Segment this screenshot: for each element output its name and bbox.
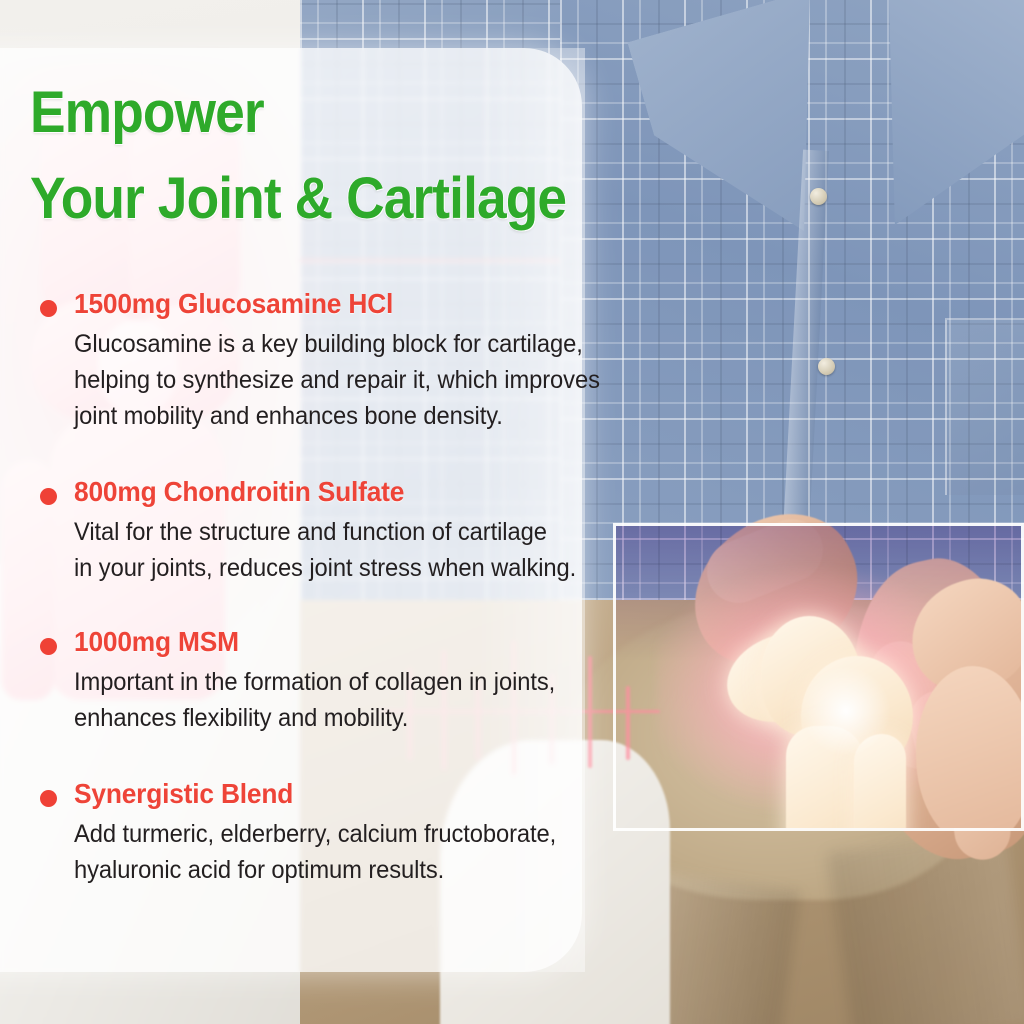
benefit-title: 1000mg MSM <box>74 626 587 658</box>
list-item: Synergistic Blend Add turmeric, elderber… <box>0 778 620 888</box>
trouser-fold-right <box>827 828 1024 1024</box>
list-item: 1500mg Glucosamine HCl Glucosamine is a … <box>0 288 620 434</box>
shirt-button-upper <box>810 188 827 205</box>
bullet-dot-icon <box>40 488 57 505</box>
headline-line-1: Empower <box>30 84 554 142</box>
benefit-line: enhances flexibility and mobility. <box>74 700 593 736</box>
benefit-description: Important in the formation of collagen i… <box>74 664 593 736</box>
shirt-button-lower <box>818 358 835 375</box>
benefit-description: Vital for the structure and function of … <box>74 514 593 586</box>
infographic-canvas: Empower Your Joint & Cartilage 1500mg Gl… <box>0 0 1024 1024</box>
benefit-title: 800mg Chondroitin Sulfate <box>74 476 587 508</box>
benefit-line: in your joints, reduces joint stress whe… <box>74 550 593 586</box>
inset-knee-photo-frame <box>613 523 1024 831</box>
inset-hand-lower <box>916 666 1024 831</box>
content-area: Empower Your Joint & Cartilage 1500mg Gl… <box>0 0 620 1024</box>
bullet-dot-icon <box>40 300 57 317</box>
benefit-title: 1500mg Glucosamine HCl <box>74 288 587 320</box>
list-item: 800mg Chondroitin Sulfate Vital for the … <box>0 476 620 586</box>
benefit-line: hyaluronic acid for optimum results. <box>74 852 593 888</box>
benefit-description: Glucosamine is a key building block for … <box>74 326 593 434</box>
bullet-dot-icon <box>40 638 57 655</box>
benefit-line: helping to synthesize and repair it, whi… <box>74 362 593 398</box>
benefits-list: 1500mg Glucosamine HCl Glucosamine is a … <box>0 288 620 912</box>
benefit-description: Add turmeric, elderberry, calcium fructo… <box>74 816 593 888</box>
inset-joint-flare <box>801 666 891 756</box>
benefit-title: Synergistic Blend <box>74 778 587 810</box>
benefit-line: Add turmeric, elderberry, calcium fructo… <box>74 816 593 852</box>
benefit-line: Important in the formation of collagen i… <box>74 664 593 700</box>
shirt-chest-pocket <box>945 318 1024 495</box>
headline-line-2: Your Joint & Cartilage <box>30 170 554 228</box>
bullet-dot-icon <box>40 790 57 807</box>
list-item: 1000mg MSM Important in the formation of… <box>0 626 620 736</box>
benefit-line: Glucosamine is a key building block for … <box>74 326 593 362</box>
benefit-line: Vital for the structure and function of … <box>74 514 593 550</box>
benefit-line: joint mobility and enhances bone density… <box>74 398 593 434</box>
page-title: Empower Your Joint & Cartilage <box>30 84 600 228</box>
